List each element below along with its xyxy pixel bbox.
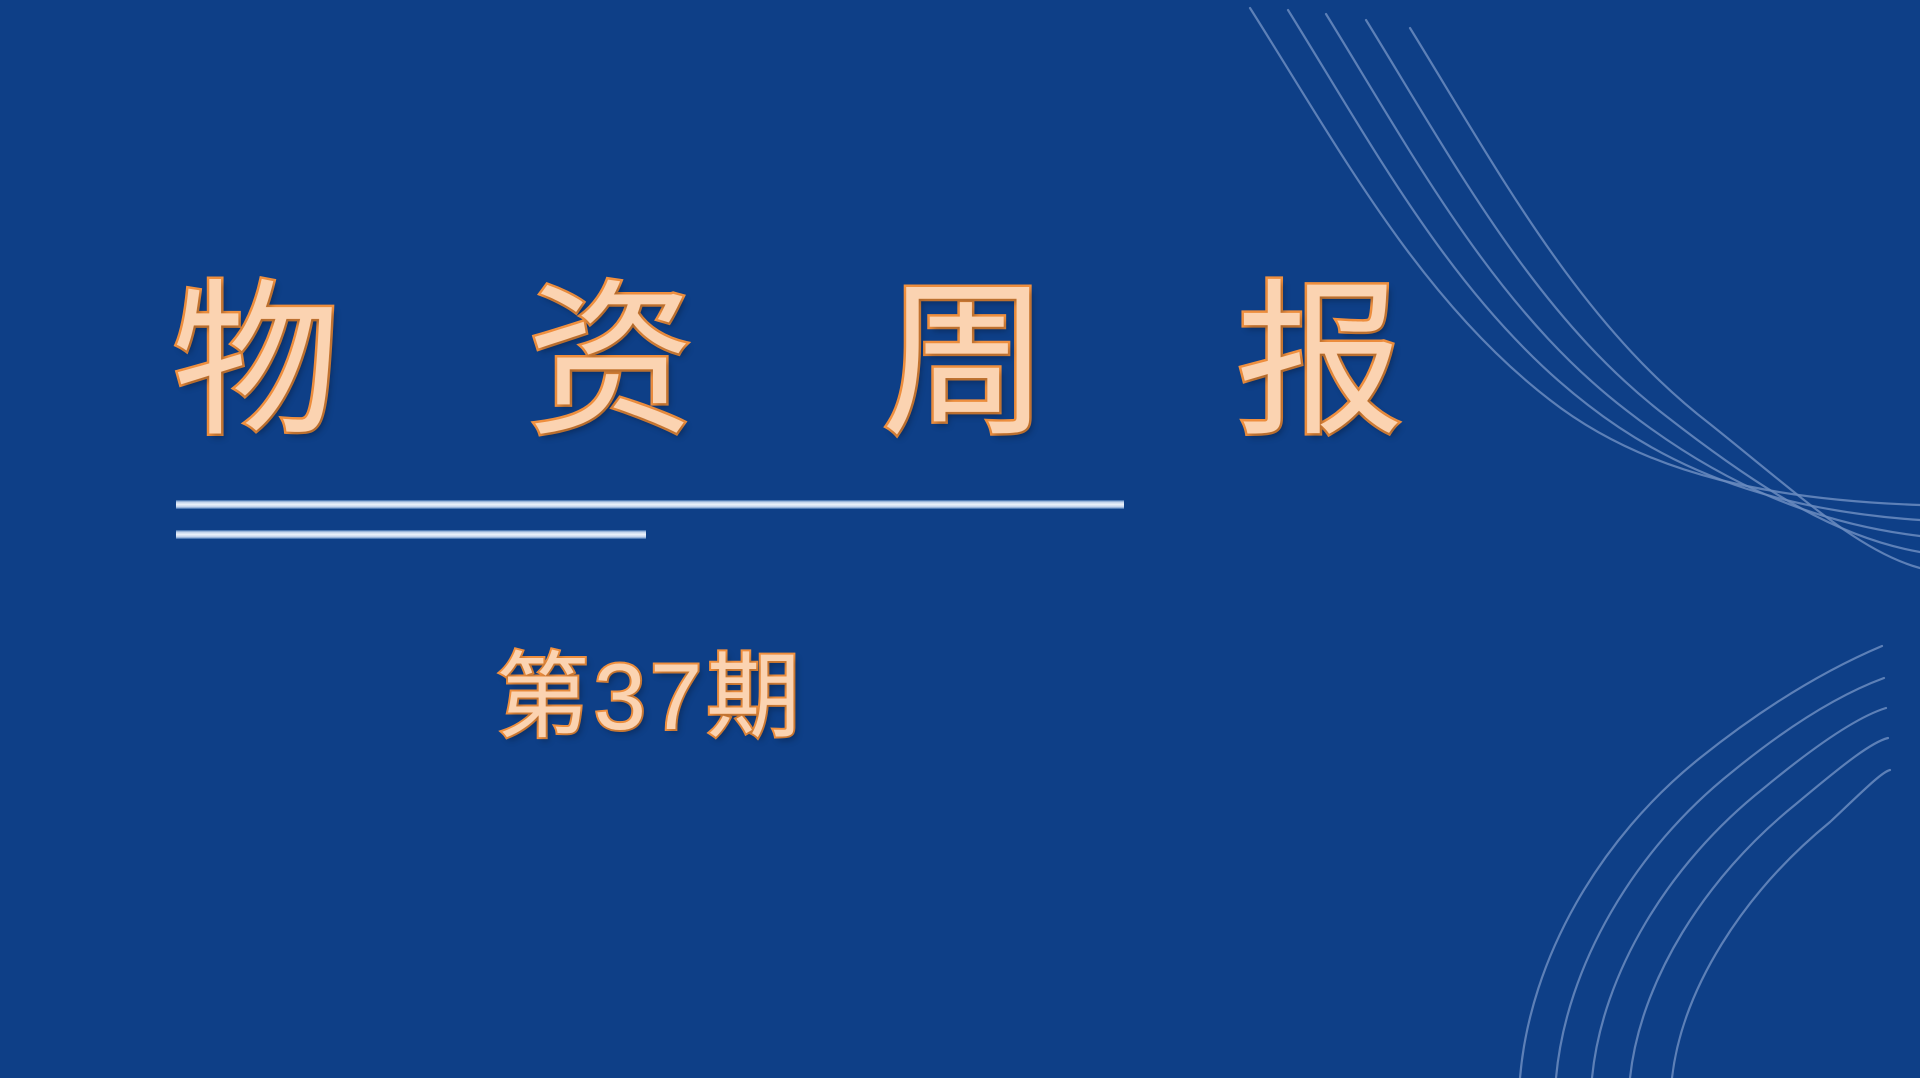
arc-lines-bottom-right-icon xyxy=(1220,558,1920,1078)
deco-arc xyxy=(1520,646,1882,1078)
issue-subtitle: 第37期 xyxy=(176,644,1124,749)
deco-arc xyxy=(1556,678,1884,1078)
deco-arc xyxy=(1592,708,1886,1078)
page-title: 物 资 周 报 xyxy=(172,278,1474,446)
cover-text-block: 物 资 周 报 第37期 xyxy=(0,0,1200,1078)
deco-arc xyxy=(1672,770,1890,1078)
cover-slide: 物 资 周 报 第37期 xyxy=(0,0,1920,1078)
title-rule-secondary xyxy=(176,530,646,539)
decoration-bottom-right xyxy=(1220,558,1920,1078)
deco-arc xyxy=(1630,738,1888,1078)
deco-curve xyxy=(1410,28,1920,568)
title-rule-primary xyxy=(176,500,1124,509)
